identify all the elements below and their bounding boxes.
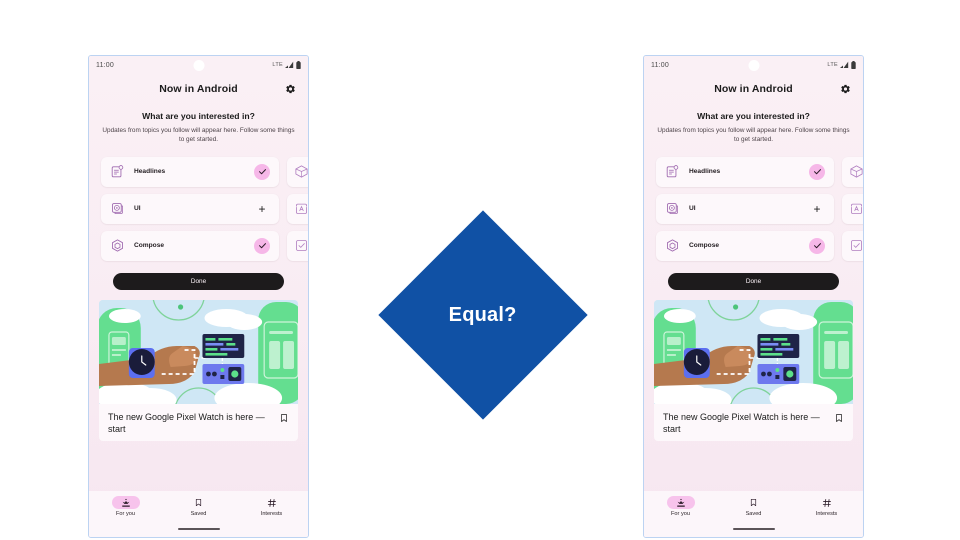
- saved-pill: [740, 496, 768, 509]
- topic-card-partial-2[interactable]: [842, 194, 864, 224]
- status-bar: 11:00 LTE: [644, 56, 863, 74]
- status-bar-time: 11:00: [651, 62, 669, 69]
- phone-screenshot-right: 11:00 LTE Now in Android: [643, 55, 864, 538]
- saved-bookmark-icon: [194, 497, 203, 508]
- topic-row: Compose: [101, 231, 308, 261]
- onboarding-subtitle: Updates from topics you follow will appe…: [101, 126, 296, 145]
- topic-card-compose[interactable]: Compose: [101, 231, 279, 261]
- phone-screen: 11:00 LTE Now in Android: [644, 56, 863, 537]
- topic-card-partial-3[interactable]: [842, 231, 864, 261]
- topic-card-partial-1[interactable]: [287, 157, 309, 187]
- headlines-document-icon: [110, 164, 125, 179]
- compose-hexagon-icon: [665, 238, 680, 253]
- front-camera-cutout: [748, 60, 759, 71]
- nav-label: Saved: [746, 511, 762, 517]
- network-label: LTE: [827, 62, 838, 68]
- nav-label: Interests: [261, 511, 282, 517]
- page-title: Now in Android: [159, 83, 238, 95]
- saved-pill: [185, 496, 213, 509]
- home-indicator: [733, 528, 775, 530]
- nav-label: For you: [116, 511, 135, 517]
- topic-row: Headlines: [101, 157, 308, 187]
- interests-hash-icon: [822, 498, 832, 508]
- cube-icon: [294, 164, 309, 179]
- onboarding-header: What are you interested in? Updates from…: [644, 104, 863, 153]
- top-app-bar: Now in Android: [644, 74, 863, 104]
- topic-label: UI: [134, 205, 141, 212]
- headlines-document-icon: [665, 164, 680, 179]
- equal-label: Equal?: [449, 304, 517, 327]
- topic-toggle-selected[interactable]: [254, 164, 270, 180]
- check-icon: [258, 167, 267, 176]
- article-title: The new Google Pixel Watch is here — sta…: [663, 411, 828, 435]
- onboarding-header: What are you interested in? Updates from…: [89, 104, 308, 153]
- front-camera-cutout: [193, 60, 204, 71]
- for-you-icon: [121, 498, 131, 508]
- topic-row: Compose: [656, 231, 863, 261]
- for-you-icon: [676, 498, 686, 508]
- done-button[interactable]: Done: [113, 273, 284, 290]
- topic-row: UI +: [101, 194, 308, 224]
- article-title: The new Google Pixel Watch is here — sta…: [108, 411, 273, 435]
- topic-card-ui[interactable]: UI +: [101, 194, 279, 224]
- nav-label: For you: [671, 511, 690, 517]
- topic-card-partial-2[interactable]: [287, 194, 309, 224]
- interests-pill: [258, 496, 286, 509]
- done-button-label: Done: [746, 278, 761, 285]
- onboarding-subtitle: Updates from topics you follow will appe…: [656, 126, 851, 145]
- check-icon: [813, 241, 822, 250]
- topic-selection-list: Headlines: [644, 153, 863, 261]
- bookmark-icon[interactable]: [834, 412, 844, 424]
- signal-bars-icon: [285, 61, 294, 69]
- illustration-svg: [654, 300, 853, 404]
- phone-screenshot-left: 11:00 LTE Now in Android: [88, 55, 309, 538]
- ui-circle-icon: [665, 201, 680, 216]
- topic-card-partial-1[interactable]: [842, 157, 864, 187]
- topic-toggle-unselected[interactable]: +: [254, 201, 270, 217]
- top-app-bar: Now in Android: [89, 74, 308, 104]
- topic-row: UI +: [656, 194, 863, 224]
- topic-label: UI: [689, 205, 696, 212]
- status-bar-indicators: LTE: [827, 61, 856, 69]
- check-icon: [258, 241, 267, 250]
- text-field-icon: [294, 201, 309, 216]
- feed-article-card[interactable]: The new Google Pixel Watch is here — sta…: [654, 404, 853, 441]
- topic-toggle-selected[interactable]: [254, 238, 270, 254]
- phone-screen: 11:00 LTE Now in Android: [89, 56, 308, 537]
- interests-pill: [813, 496, 841, 509]
- topic-card-compose[interactable]: Compose: [656, 231, 834, 261]
- topic-toggle-selected[interactable]: [809, 238, 825, 254]
- topic-card-ui[interactable]: UI +: [656, 194, 834, 224]
- topic-label: Compose: [689, 242, 719, 249]
- signal-bars-icon: [840, 61, 849, 69]
- topic-card-headlines[interactable]: Headlines: [656, 157, 834, 187]
- nav-item-interests[interactable]: Interests: [790, 496, 863, 517]
- topic-row: Headlines: [656, 157, 863, 187]
- pixel-watch-illustration: [654, 300, 853, 404]
- for-you-pill: [112, 496, 140, 509]
- topic-label: Compose: [134, 242, 164, 249]
- plus-icon: +: [258, 203, 265, 215]
- plus-icon: +: [813, 203, 820, 215]
- bottom-navigation: For you Saved Inte: [89, 491, 308, 537]
- pixel-watch-illustration: [99, 300, 298, 404]
- nav-label: Saved: [191, 511, 207, 517]
- comparison-stage: 11:00 LTE Now in Android: [0, 0, 960, 540]
- saved-bookmark-icon: [749, 497, 758, 508]
- nav-item-interests[interactable]: Interests: [235, 496, 308, 517]
- topic-label: Headlines: [689, 168, 720, 175]
- compose-hexagon-icon: [110, 238, 125, 253]
- page-title: Now in Android: [714, 83, 793, 95]
- illustration-svg: [99, 300, 298, 404]
- topic-toggle-unselected[interactable]: +: [809, 201, 825, 217]
- feed-article-card[interactable]: The new Google Pixel Watch is here — sta…: [99, 404, 298, 441]
- nav-item-for-you[interactable]: For you: [89, 496, 162, 517]
- topic-label: Headlines: [134, 168, 165, 175]
- interests-hash-icon: [267, 498, 277, 508]
- battery-icon: [296, 61, 301, 69]
- cube-icon: [849, 164, 864, 179]
- home-indicator: [178, 528, 220, 530]
- bottom-navigation: For you Saved Inte: [644, 491, 863, 537]
- done-button-container: Done: [89, 261, 308, 300]
- bookmark-icon[interactable]: [279, 412, 289, 424]
- nav-item-saved[interactable]: Saved: [717, 496, 790, 517]
- status-bar-time: 11:00: [96, 62, 114, 69]
- checkbox-icon: [294, 238, 309, 253]
- nav-item-saved[interactable]: Saved: [162, 496, 235, 517]
- ui-circle-icon: [110, 201, 125, 216]
- gear-icon[interactable]: [840, 84, 851, 95]
- nav-label: Interests: [816, 511, 837, 517]
- status-bar: 11:00 LTE: [89, 56, 308, 74]
- checkbox-icon: [849, 238, 864, 253]
- equal-comparison-diamond: Equal?: [378, 210, 587, 419]
- nav-item-for-you[interactable]: For you: [644, 496, 717, 517]
- status-bar-indicators: LTE: [272, 61, 301, 69]
- for-you-pill: [667, 496, 695, 509]
- topic-card-partial-3[interactable]: [287, 231, 309, 261]
- text-field-icon: [849, 201, 864, 216]
- done-button-label: Done: [191, 278, 206, 285]
- gear-icon[interactable]: [285, 84, 296, 95]
- topic-toggle-selected[interactable]: [809, 164, 825, 180]
- topic-card-headlines[interactable]: Headlines: [101, 157, 279, 187]
- done-button[interactable]: Done: [668, 273, 839, 290]
- topic-selection-list: Headlines: [89, 153, 308, 261]
- onboarding-title: What are you interested in?: [656, 111, 851, 121]
- battery-icon: [851, 61, 856, 69]
- done-button-container: Done: [644, 261, 863, 300]
- onboarding-title: What are you interested in?: [101, 111, 296, 121]
- check-icon: [813, 167, 822, 176]
- network-label: LTE: [272, 62, 283, 68]
